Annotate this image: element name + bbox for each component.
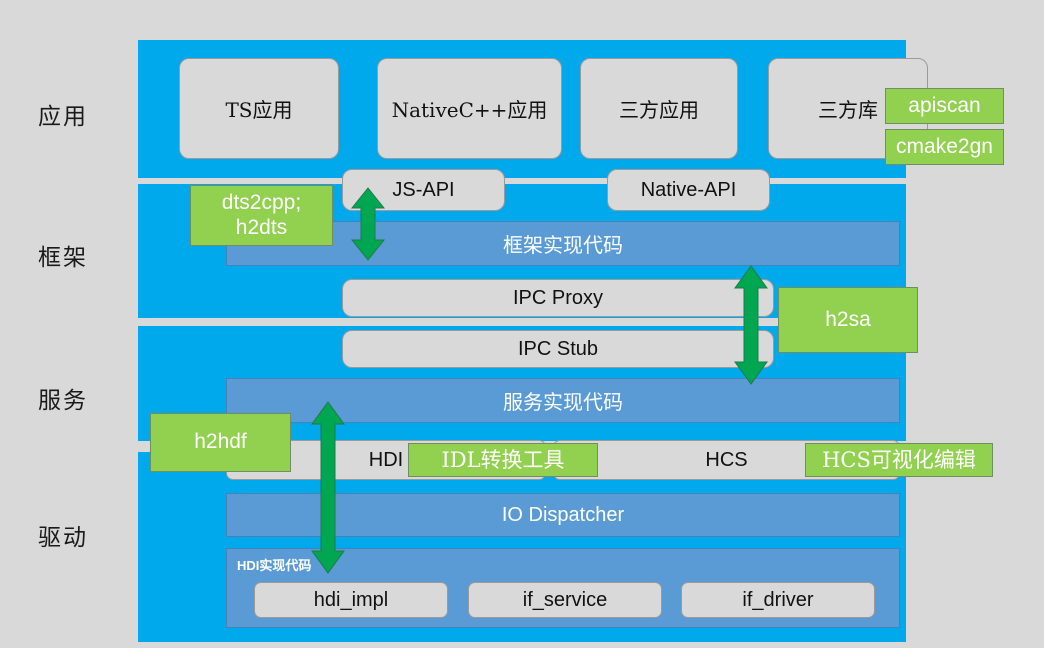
tool-h2hdf[interactable]: h2hdf — [150, 413, 291, 472]
node-native-cpp-app[interactable]: NativeC++应用 — [377, 58, 562, 159]
architecture-diagram: 应用 框架 服务 驱动 TS应用 NativeC++应用 三方应用 三方库 ap… — [0, 0, 1044, 648]
arrow-service-to-hdi-impl — [310, 400, 346, 575]
node-if-service[interactable]: if_service — [468, 582, 662, 618]
tool-idl-converter[interactable]: IDL转换工具 — [408, 443, 598, 477]
layer-label-driver: 驱动 — [38, 518, 128, 552]
node-native-api[interactable]: Native-API — [607, 169, 770, 211]
tool-hcs-visual-editor[interactable]: HCS可视化编辑 — [805, 443, 993, 477]
tool-h2sa[interactable]: h2sa — [778, 287, 918, 353]
node-third-party-app[interactable]: 三方应用 — [580, 58, 738, 159]
node-if-driver[interactable]: if_driver — [681, 582, 875, 618]
tool-dts2cpp-h2dts[interactable]: dts2cpp; h2dts — [190, 185, 333, 246]
layer-label-service: 服务 — [38, 381, 128, 415]
arrow-js-api-to-framework — [350, 186, 386, 262]
layer-label-app: 应用 — [38, 97, 128, 131]
tool-apiscan[interactable]: apiscan — [885, 88, 1004, 124]
node-ipc-stub[interactable]: IPC Stub — [342, 330, 774, 368]
node-hdi-impl[interactable]: hdi_impl — [254, 582, 448, 618]
arrow-ipc-proxy-stub — [733, 264, 769, 386]
node-ipc-proxy[interactable]: IPC Proxy — [342, 279, 774, 317]
layer-label-framework: 框架 — [38, 238, 128, 272]
tool-cmake2gn[interactable]: cmake2gn — [885, 129, 1004, 165]
node-ts-app[interactable]: TS应用 — [179, 58, 339, 159]
